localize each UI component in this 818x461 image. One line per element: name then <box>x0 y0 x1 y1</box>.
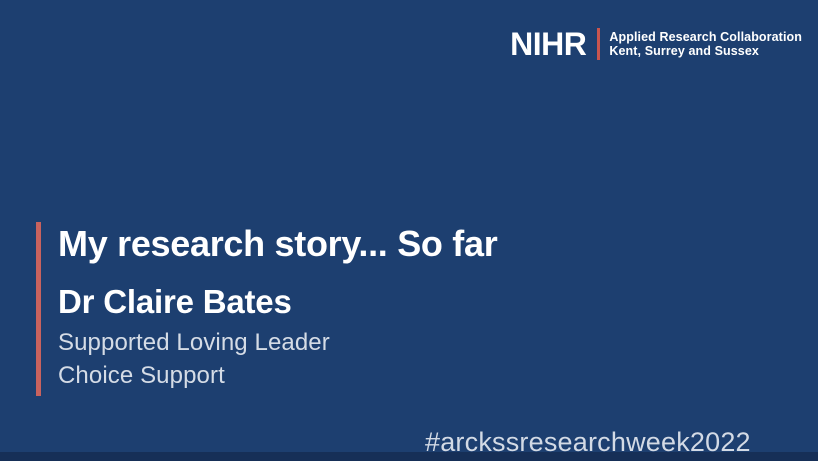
nihr-logo: NIHR Applied Research Collaboration Kent… <box>510 26 802 62</box>
nihr-wordmark: NIHR <box>510 28 586 60</box>
logo-descriptor-line-1: Applied Research Collaboration <box>609 30 802 45</box>
logo-descriptor: Applied Research Collaboration Kent, Sur… <box>609 30 802 59</box>
title-block: My research story... So far Dr Claire Ba… <box>36 222 497 396</box>
logo-descriptor-line-2: Kent, Surrey and Sussex <box>609 44 802 59</box>
title-text-group: My research story... So far Dr Claire Ba… <box>41 222 497 396</box>
slide-title: My research story... So far <box>58 222 497 266</box>
bottom-edge-band <box>0 452 818 461</box>
presentation-slide: NIHR Applied Research Collaboration Kent… <box>0 0 818 461</box>
presenter-organisation: Choice Support <box>58 359 497 392</box>
presenter-role: Supported Loving Leader <box>58 326 497 359</box>
presenter-name: Dr Claire Bates <box>58 282 497 322</box>
logo-divider <box>597 28 600 60</box>
